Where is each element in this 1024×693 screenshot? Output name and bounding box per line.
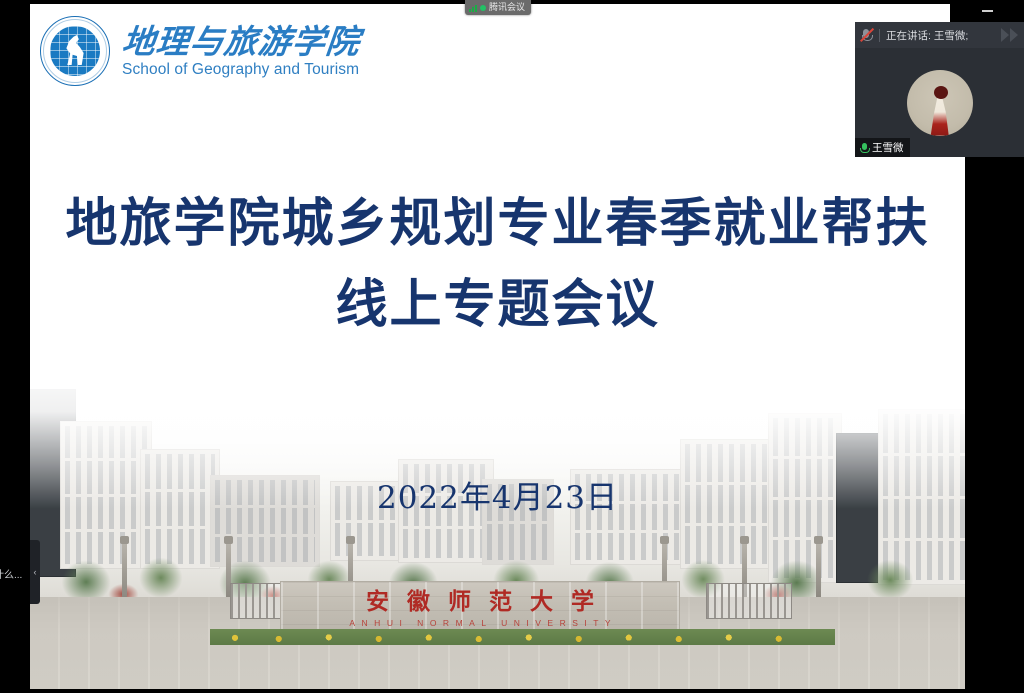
lamp-post [816, 541, 821, 597]
globe-icon [50, 26, 100, 76]
school-wordmark: 地理与旅游学院 School of Geography and Tourism [122, 25, 360, 77]
school-name-en: School of Geography and Tourism [122, 62, 360, 78]
chat-message-truncated: 什么... [0, 566, 22, 581]
school-emblem-icon [40, 16, 110, 86]
window-controls [950, 0, 1024, 22]
minimize-icon [982, 10, 993, 12]
school-name-cn: 地理与旅游学院 [120, 25, 362, 60]
app-root: 安徽师范大学 ANHUI NORMAL UNIVERSITY 地理与旅游学院 S… [0, 0, 1024, 693]
flower-bed [210, 629, 835, 645]
video-tile-body: 王雪微 [855, 48, 1024, 157]
participant-name-badge: 王雪微 [855, 138, 910, 157]
microphone-muted-icon[interactable] [859, 27, 873, 43]
signal-strength-icon [469, 4, 477, 12]
minimize-button[interactable] [976, 1, 998, 21]
divider [879, 29, 880, 42]
monument-name-en: ANHUI NORMAL UNIVERSITY [343, 618, 617, 628]
avatar [907, 70, 973, 136]
slide-title-line-1: 地旅学院城乡规划专业春季就业帮扶 [30, 184, 965, 265]
avatar-figure [925, 86, 955, 136]
video-tile-header: 正在讲话: 王雪微; [855, 22, 1024, 48]
campus-gate-right [706, 583, 792, 619]
meeting-status-pill[interactable]: 腾讯会议 [465, 0, 531, 15]
slide-title-line-2: 线上专题会议 [30, 265, 965, 346]
school-logo-lockup: 地理与旅游学院 School of Geography and Tourism [40, 16, 360, 86]
meeting-app-label: 腾讯会议 [489, 3, 525, 12]
chat-panel-sliver[interactable]: 什么... [0, 558, 30, 588]
slide-title: 地旅学院城乡规划专业春季就业帮扶 线上专题会议 [30, 184, 965, 345]
recording-dot-icon [480, 5, 486, 11]
microphone-on-icon [859, 142, 869, 154]
chevron-left-icon: ‹ [34, 568, 37, 577]
shared-slide: 安徽师范大学 ANHUI NORMAL UNIVERSITY 地理与旅游学院 S… [30, 4, 965, 689]
lamp-post [122, 541, 127, 597]
monument-name-cn: 安徽师范大学 [348, 591, 612, 614]
slide-date: 2022年4月23日 [30, 472, 965, 517]
collapse-chevron-icon[interactable] [1001, 28, 1020, 42]
active-speaker-label: 正在讲话: 王雪微; [886, 28, 995, 43]
speaker-video-tile[interactable]: 正在讲话: 王雪微; 王雪微 [855, 22, 1024, 157]
campus-photo: 安徽师范大学 ANHUI NORMAL UNIVERSITY [30, 359, 965, 689]
participant-name: 王雪微 [872, 140, 904, 155]
panel-collapse-handle[interactable]: ‹ [30, 540, 40, 604]
